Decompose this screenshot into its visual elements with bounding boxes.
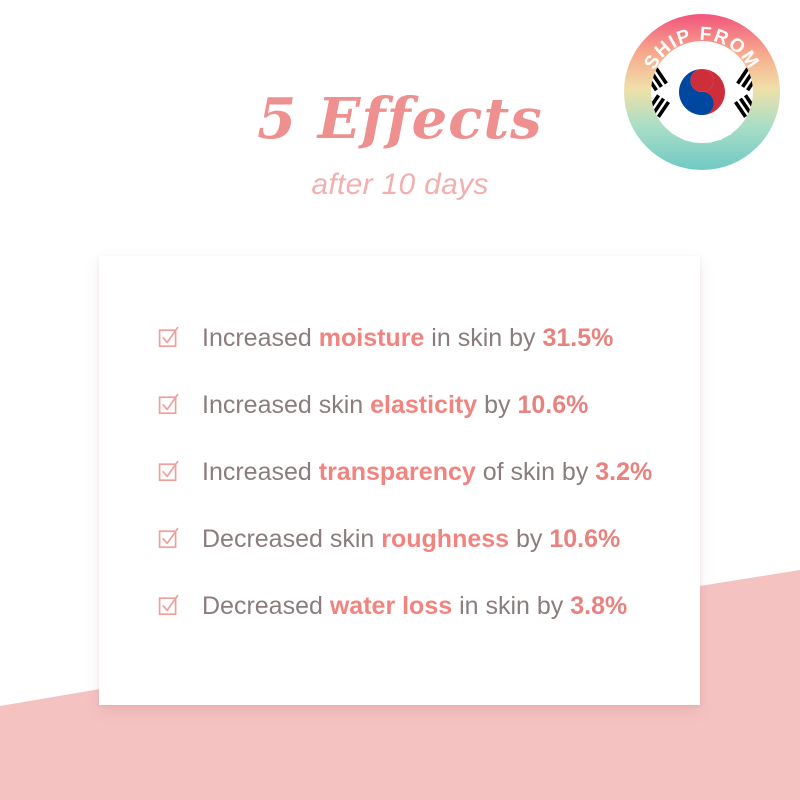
effect-list-item: Increased skin elasticity by 10.6% — [158, 371, 676, 438]
effect-text: Increased moisture in skin by 31.5% — [202, 324, 613, 352]
checkbox-checked-icon — [158, 460, 180, 482]
effect-value: 10.6% — [517, 391, 588, 419]
effect-text-segment: Increased — [202, 458, 319, 486]
effect-text-segment: Decreased skin — [202, 525, 381, 553]
effect-text-segment: Increased skin — [202, 391, 370, 419]
effect-text: Increased transparency of skin by 3.2% — [202, 458, 652, 486]
effect-metric-highlight: transparency — [319, 458, 476, 486]
effect-list-item: Decreased skin roughness by 10.6% — [158, 505, 676, 572]
page-subtitle: after 10 days — [0, 168, 800, 202]
checkbox-checked-icon — [158, 527, 180, 549]
effect-text-segment: by — [477, 391, 517, 419]
checkbox-checked-icon — [158, 393, 180, 415]
effect-list-item: Decreased water loss in skin by 3.8% — [158, 572, 676, 639]
effect-list-item: Increased transparency of skin by 3.2% — [158, 438, 676, 505]
checkbox-checked-icon — [158, 326, 180, 348]
effect-metric-highlight: roughness — [381, 525, 509, 553]
checkbox-checked-icon — [158, 594, 180, 616]
effect-text: Decreased water loss in skin by 3.8% — [202, 592, 627, 620]
effect-text-segment: of skin by — [476, 458, 596, 486]
effects-list: Increased moisture in skin by 31.5%Incre… — [99, 256, 700, 705]
effect-text-segment: by — [509, 525, 549, 553]
effect-value: 3.2% — [595, 458, 652, 486]
pink-wedge-right — [700, 570, 800, 800]
effect-text-segment: Decreased — [202, 592, 330, 620]
effect-text: Decreased skin roughness by 10.6% — [202, 525, 620, 553]
effect-text-segment: in skin by — [424, 324, 542, 352]
effect-value: 3.8% — [570, 592, 627, 620]
ship-from-prism-badge: SHIP FROM PRISM — [622, 12, 782, 172]
effect-metric-highlight: elasticity — [370, 391, 477, 419]
effect-text-segment: Increased — [202, 324, 319, 352]
effect-text-segment: in skin by — [452, 592, 570, 620]
effect-value: 10.6% — [549, 525, 620, 553]
effect-metric-highlight: moisture — [319, 324, 425, 352]
effect-value: 31.5% — [542, 324, 613, 352]
effect-metric-highlight: water loss — [330, 592, 452, 620]
poster-canvas: SHIP FROM PRISM 5 Effects after 10 days … — [0, 0, 800, 800]
effects-card: Increased moisture in skin by 31.5%Incre… — [99, 256, 700, 705]
effect-list-item: Increased moisture in skin by 31.5% — [158, 304, 676, 371]
taegeuk-symbol — [679, 69, 725, 115]
effect-text: Increased skin elasticity by 10.6% — [202, 391, 588, 419]
